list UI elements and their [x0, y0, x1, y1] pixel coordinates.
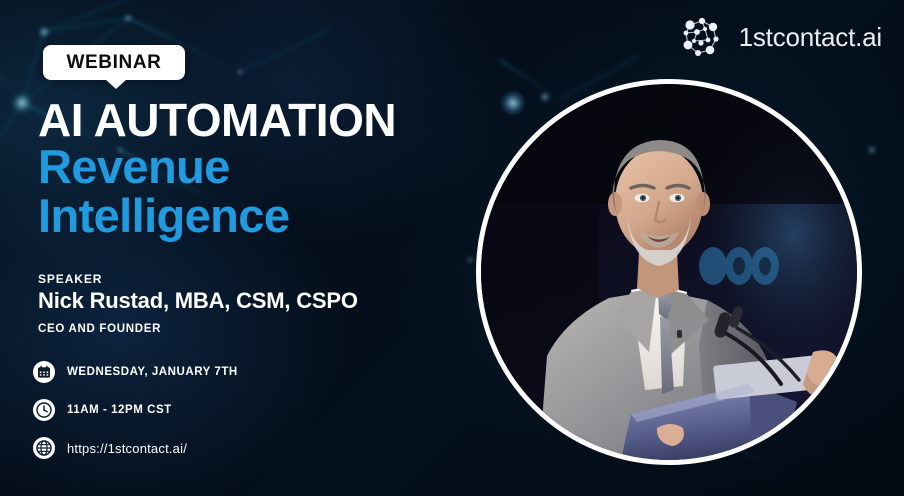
- webinar-badge-label: WEBINAR: [67, 52, 162, 74]
- detail-url-text: https://1stcontact.ai/: [67, 441, 187, 456]
- webinar-badge: WEBINAR: [43, 45, 185, 80]
- speaker-portrait: [476, 79, 862, 465]
- detail-row-date: WEDNESDAY, JANUARY 7TH: [33, 361, 238, 383]
- headline-line-2: Revenue: [38, 143, 289, 192]
- brand-logo[interactable]: 1stcontact.ai: [677, 12, 882, 62]
- detail-row-url[interactable]: https://1stcontact.ai/: [33, 437, 238, 459]
- speaker-role: CEO AND FOUNDER: [38, 323, 161, 335]
- calendar-icon: [33, 361, 55, 383]
- globe-icon: [33, 437, 55, 459]
- headline-subtitle: Revenue Intelligence: [38, 143, 289, 241]
- background-glow-dot: [500, 90, 526, 116]
- clock-icon: [33, 399, 55, 421]
- detail-time-text: 11AM - 12PM CST: [67, 404, 172, 416]
- headline-line-3: Intelligence: [38, 192, 289, 241]
- network-nodes-icon: [677, 12, 727, 62]
- headline-line-1: AI AUTOMATION: [38, 97, 396, 143]
- brand-name: 1stcontact.ai: [739, 22, 882, 53]
- detail-date-text: WEDNESDAY, JANUARY 7TH: [67, 366, 238, 378]
- speaker-name: Nick Rustad, MBA, CSM, CSPO: [38, 288, 358, 314]
- speaker-label: SPEAKER: [38, 272, 102, 286]
- detail-row-time: 11AM - 12PM CST: [33, 399, 238, 421]
- speaker-photo: [481, 84, 857, 460]
- event-details-list: WEDNESDAY, JANUARY 7TH 11AM - 12PM CST: [33, 361, 238, 475]
- webinar-promo-canvas: 1stcontact.ai WEBINAR AI AUTOMATION Reve…: [0, 0, 904, 496]
